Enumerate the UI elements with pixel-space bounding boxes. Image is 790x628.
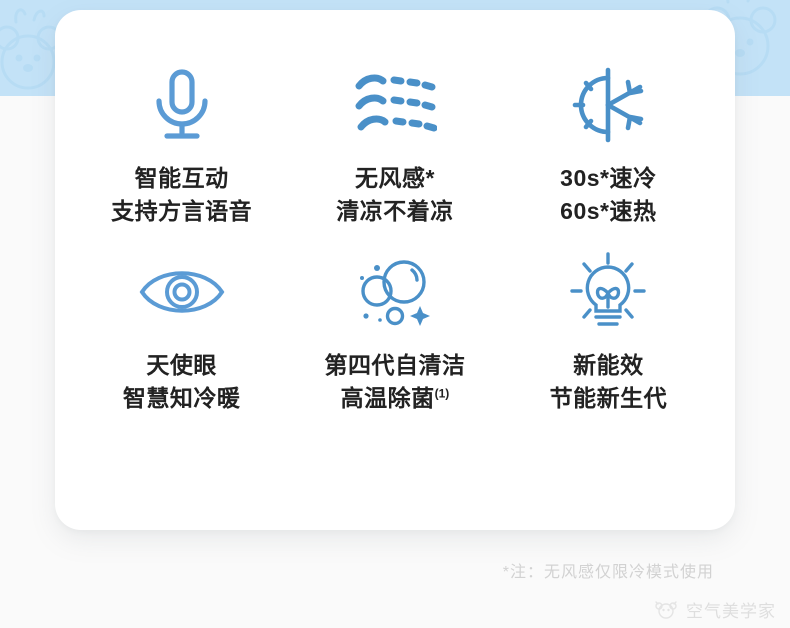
feature-label: 新能效 节能新生代 <box>550 349 668 414</box>
feature-line2: 智慧知冷暖 <box>123 382 241 415</box>
watermark: 空气美学家 <box>653 597 776 622</box>
feature-item-smart-interaction: 智能互动 支持方言语音 <box>75 62 288 227</box>
air-aesthetics-logo-icon <box>653 599 679 621</box>
airflow-icon <box>353 62 437 148</box>
feature-line2-wrap: 高温除菌(1) <box>324 382 465 415</box>
feature-superscript: (1) <box>435 386 450 400</box>
feature-label: 第四代自清洁 高温除菌(1) <box>324 349 465 414</box>
feature-line2: 清凉不着凉 <box>336 195 454 228</box>
eco-lightbulb-icon <box>566 249 650 335</box>
feature-item-self-clean: 第四代自清洁 高温除菌(1) <box>288 249 501 414</box>
feature-line1: 第四代自清洁 <box>324 349 465 382</box>
feature-line2: 节能新生代 <box>550 382 668 415</box>
sun-snowflake-icon <box>568 62 648 148</box>
feature-line1: 新能效 <box>550 349 668 382</box>
feature-card: 智能互动 支持方言语音 <box>55 10 735 530</box>
feature-label: 无风感* 清凉不着凉 <box>336 162 454 227</box>
feature-label: 智能互动 支持方言语音 <box>111 162 252 227</box>
feature-grid: 智能互动 支持方言语音 <box>75 62 715 415</box>
feature-item-new-efficiency: 新能效 节能新生代 <box>502 249 715 414</box>
feature-line1: 无风感* <box>336 162 454 195</box>
feature-label: 30s*速冷 60s*速热 <box>560 162 656 227</box>
bubbles-sparkle-icon <box>352 249 438 335</box>
feature-item-fast-cool-heat: 30s*速冷 60s*速热 <box>502 62 715 227</box>
feature-item-windless: 无风感* 清凉不着凉 <box>288 62 501 227</box>
eye-icon <box>136 249 228 335</box>
feature-line1: 智能互动 <box>111 162 252 195</box>
watermark-text: 空气美学家 <box>686 597 776 622</box>
feature-line2: 高温除菌 <box>341 385 435 411</box>
feature-line1: 30s*速冷 <box>560 162 656 195</box>
feature-label: 天使眼 智慧知冷暖 <box>123 349 241 414</box>
footnote-text: *注：无风感仅限冷模式使用 <box>503 558 714 582</box>
feature-line1: 天使眼 <box>123 349 241 382</box>
feature-line2: 60s*速热 <box>560 195 656 228</box>
feature-line2: 支持方言语音 <box>111 195 252 228</box>
feature-item-angel-eye: 天使眼 智慧知冷暖 <box>75 249 288 414</box>
microphone-icon <box>145 62 219 148</box>
